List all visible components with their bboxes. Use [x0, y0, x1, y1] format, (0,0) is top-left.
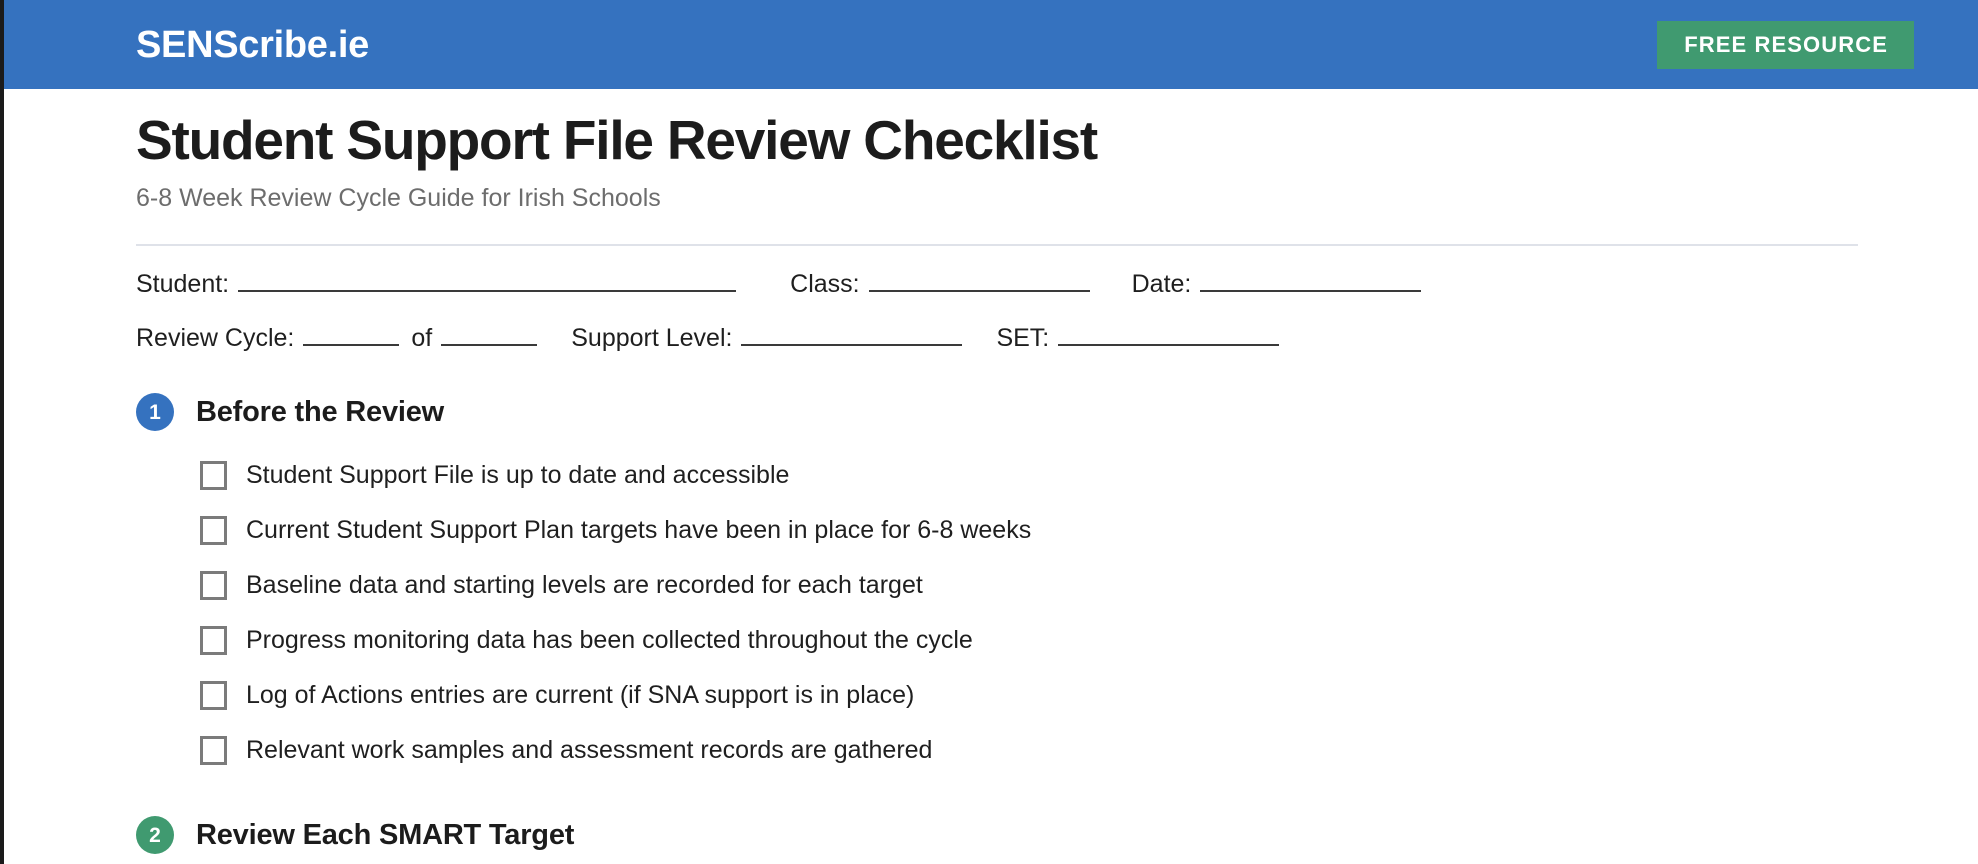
review-cycle-label: Review Cycle: — [136, 324, 294, 353]
list-item-label: Relevant work samples and assessment rec… — [246, 738, 932, 763]
list-item[interactable]: Baseline data and starting levels are re… — [200, 558, 1978, 613]
date-label: Date: — [1132, 270, 1192, 299]
list-item-label: Current Student Support Plan targets hav… — [246, 518, 1031, 543]
checkbox-icon[interactable] — [200, 571, 227, 600]
meta-row-student: Student: Class: Date: — [136, 266, 1978, 299]
review-cycle-input-blank[interactable] — [303, 320, 399, 346]
set-label: SET: — [996, 324, 1049, 353]
class-input-blank[interactable] — [869, 266, 1090, 292]
checklist-group: Student Support File is up to date and a… — [136, 448, 1978, 778]
support-level-input-blank[interactable] — [741, 320, 962, 346]
student-label: Student: — [136, 270, 229, 299]
section-header: 2 Review Each SMART Target — [136, 816, 1978, 854]
document-body: Student Support File Review Checklist 6-… — [0, 89, 1978, 864]
class-label: Class: — [790, 270, 859, 299]
section-title: Before the Review — [196, 398, 444, 427]
checkbox-icon[interactable] — [200, 626, 227, 655]
list-item[interactable]: Student Support File is up to date and a… — [200, 448, 1978, 503]
section-title: Review Each SMART Target — [196, 821, 574, 850]
checkbox-icon[interactable] — [200, 461, 227, 490]
page-title: Student Support File Review Checklist — [136, 111, 1978, 170]
section-number-badge: 2 — [136, 816, 174, 854]
list-item[interactable]: Relevant work samples and assessment rec… — [200, 723, 1978, 778]
list-item[interactable]: Current Student Support Plan targets hav… — [200, 503, 1978, 558]
window-edge — [0, 0, 4, 864]
set-field[interactable]: SET: — [996, 320, 1279, 353]
brand-logo-text: SENScribe.ie — [136, 26, 369, 64]
student-field[interactable]: Student: — [136, 266, 736, 299]
list-item[interactable]: Log of Actions entries are current (if S… — [200, 668, 1978, 723]
support-level-label: Support Level: — [571, 324, 732, 353]
review-cycle-total-blank[interactable] — [441, 320, 537, 346]
section-header: 1 Before the Review — [136, 393, 1978, 431]
section-before-the-review: 1 Before the Review Student Support File… — [136, 393, 1978, 778]
header-divider — [136, 244, 1858, 246]
list-item-label: Progress monitoring data has been collec… — [246, 628, 973, 653]
class-field[interactable]: Class: — [790, 266, 1089, 299]
list-item[interactable]: Progress monitoring data has been collec… — [200, 613, 1978, 668]
checklist-page: SENScribe.ie FREE RESOURCE Student Suppo… — [0, 0, 1978, 864]
brand-header-bar: SENScribe.ie FREE RESOURCE — [0, 0, 1978, 89]
section-number-badge: 1 — [136, 393, 174, 431]
meta-row-cycle: Review Cycle: of Support Level: SET: — [136, 320, 1978, 353]
free-resource-badge: FREE RESOURCE — [1657, 21, 1914, 69]
list-item-label: Baseline data and starting levels are re… — [246, 573, 923, 598]
set-input-blank[interactable] — [1058, 320, 1279, 346]
support-level-field[interactable]: Support Level: — [571, 320, 962, 353]
checkbox-icon[interactable] — [200, 736, 227, 765]
list-item-label: Student Support File is up to date and a… — [246, 463, 789, 488]
page-subtitle: 6-8 Week Review Cycle Guide for Irish Sc… — [136, 183, 1978, 213]
checkbox-icon[interactable] — [200, 681, 227, 710]
list-item-label: Log of Actions entries are current (if S… — [246, 683, 914, 708]
review-cycle-of-label: of — [411, 324, 432, 353]
section-review-each-smart-target: 2 Review Each SMART Target — [136, 816, 1978, 864]
review-cycle-field[interactable]: Review Cycle: of — [136, 320, 537, 353]
date-field[interactable]: Date: — [1132, 266, 1422, 299]
date-input-blank[interactable] — [1200, 266, 1421, 292]
student-input-blank[interactable] — [238, 266, 736, 292]
checkbox-icon[interactable] — [200, 516, 227, 545]
